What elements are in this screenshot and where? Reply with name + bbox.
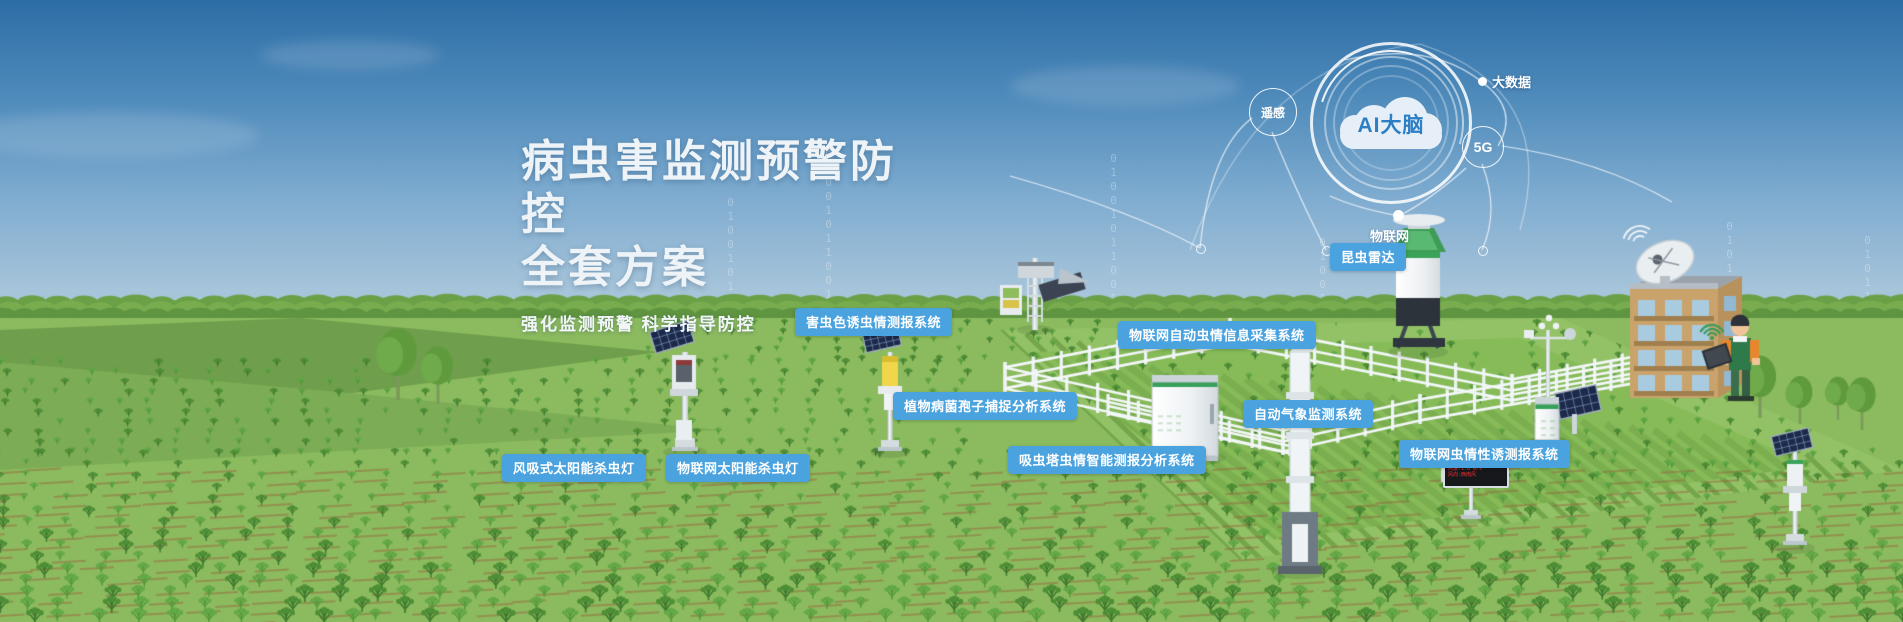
brain-node-5g-label: 5G: [1474, 139, 1493, 155]
callout-insect-radar[interactable]: 昆虫雷达: [1330, 243, 1406, 271]
callout-spore-capture[interactable]: 植物病菌孢子捕捉分析系统: [893, 392, 1077, 420]
callout-iot-pheromone[interactable]: 物联网虫情性诱测报系统: [1399, 440, 1570, 468]
brain-endpoint-left: [1196, 244, 1206, 254]
led-line-4: 风向:西南风: [1448, 472, 1504, 478]
callout-suction-tower[interactable]: 吸虫塔虫情智能测报分析系统: [1008, 446, 1206, 474]
callout-wind-solar-lamp[interactable]: 风吸式太阳能杀虫灯: [502, 454, 646, 482]
brain-node-iot-dot: [1393, 210, 1404, 221]
callout-auto-weather[interactable]: 自动气象监测系统: [1243, 400, 1373, 428]
brain-endpoint-right: [1478, 246, 1488, 256]
ai-brain-label: AI大脑: [1358, 109, 1425, 139]
brain-node-bigdata-dot: [1478, 77, 1487, 86]
callout-color-trap[interactable]: 害虫色诱虫情测报系统: [795, 308, 952, 336]
brain-node-remote-sensing[interactable]: 遥感: [1249, 88, 1297, 136]
callout-iot-solar-lamp[interactable]: 物联网太阳能杀虫灯: [666, 454, 810, 482]
page-title-line-1: 病虫害监测预警防控: [521, 135, 941, 241]
brain-node-5g[interactable]: 5G: [1462, 126, 1504, 168]
callout-iot-pest-collect[interactable]: 物联网自动虫情信息采集系统: [1118, 321, 1316, 349]
brain-node-remote-sensing-label: 遥感: [1261, 104, 1285, 121]
brain-node-bigdata-label: 大数据: [1492, 72, 1531, 91]
page-title-line-2: 全套方案: [521, 241, 941, 294]
ai-brain-graphic: AI大脑: [1311, 43, 1471, 203]
hero-text-block: 病虫害监测预警防控 全套方案 强化监测预警 科学指导防控: [521, 135, 941, 335]
illustration-banner: 0100101100101001010100101100101001001011…: [0, 0, 1903, 622]
